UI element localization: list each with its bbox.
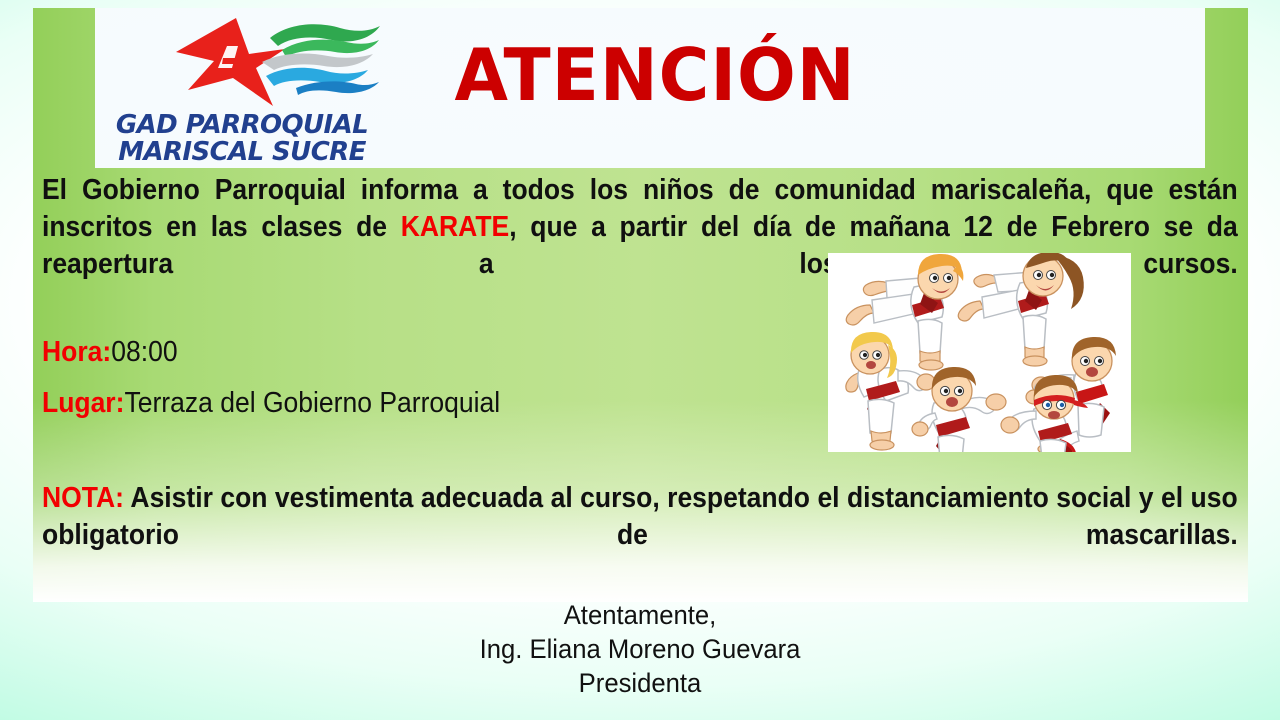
- karate-kids-illustration: [828, 253, 1131, 452]
- logo-line-1: GAD PARROQUIAL: [92, 112, 392, 139]
- signature-block: Atentamente, Ing. Eliana Moreno Guevara …: [32, 598, 1248, 700]
- lugar-label: Lugar:: [42, 387, 124, 419]
- announcement-poster: GAD PARROQUIAL MARISCAL SUCRE ATENCIÓN E…: [0, 0, 1280, 720]
- lugar-value: Terraza del Gobierno Parroquial: [124, 387, 500, 419]
- nota-text: Asistir con vestimenta adecuada al curso…: [42, 482, 1238, 551]
- logo-line-2: MARISCAL SUCRE: [92, 139, 392, 166]
- organization-logo: GAD PARROQUIAL MARISCAL SUCRE: [92, 16, 392, 166]
- karate-highlight: KARATE: [401, 211, 509, 243]
- signature-line-3: Presidenta: [32, 666, 1248, 700]
- page-title: ATENCIÓN: [439, 36, 871, 114]
- logo-wordmark: GAD PARROQUIAL MARISCAL SUCRE: [92, 112, 392, 166]
- signature-line-2: Ing. Eliana Moreno Guevara: [32, 632, 1248, 666]
- hora-label: Hora:: [42, 336, 111, 368]
- hora-value: 08:00: [111, 336, 177, 368]
- signature-line-1: Atentamente,: [32, 598, 1248, 632]
- nota-label: NOTA:: [42, 482, 124, 514]
- gad-star-swoosh-logo: [170, 16, 385, 108]
